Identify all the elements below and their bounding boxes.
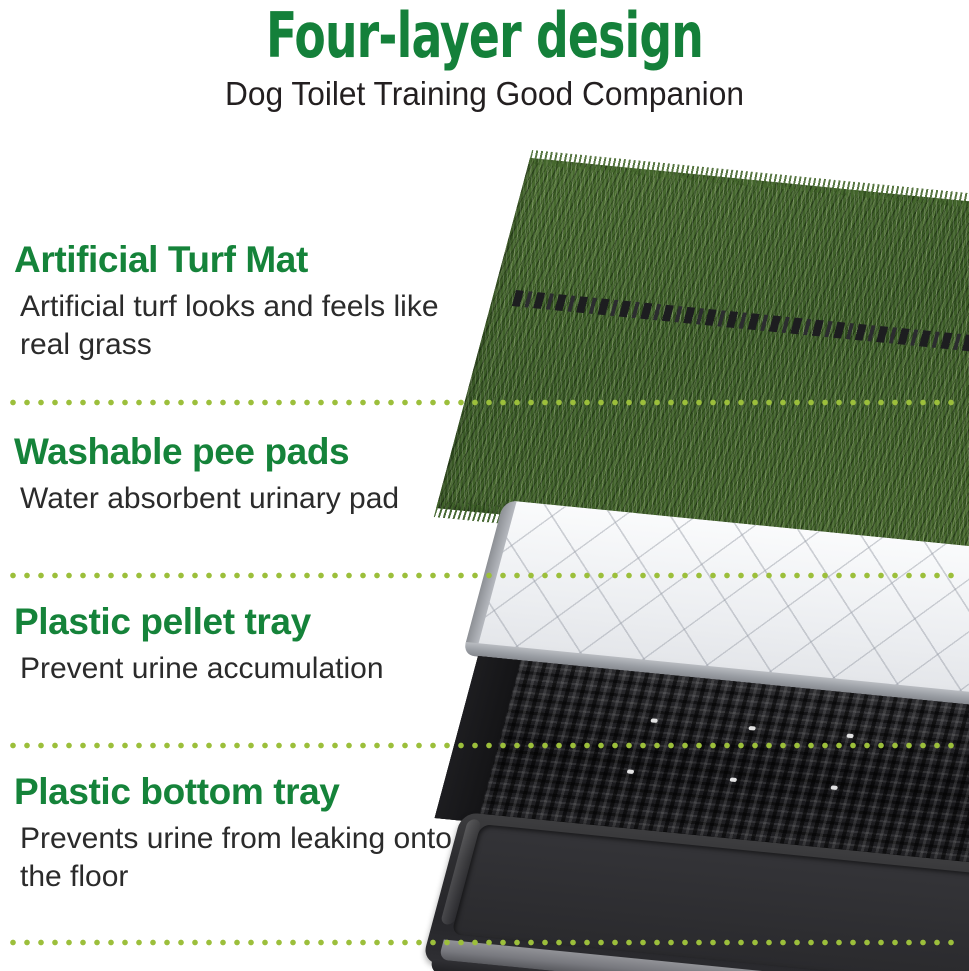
feature-description: Prevents urine from leaking onto the flo… — [20, 820, 490, 896]
dotted-divider — [10, 399, 960, 406]
product-infographic: Four-layer design Dog Toilet Training Go… — [0, 0, 969, 971]
feature-block-artificial-turf-mat: Artificial Turf Mat Artificial turf look… — [14, 238, 514, 364]
feature-description: Water absorbent urinary pad — [20, 480, 490, 518]
dotted-divider — [10, 742, 960, 749]
header: Four-layer design Dog Toilet Training Go… — [0, 0, 969, 125]
turf-fringe-top — [528, 150, 969, 218]
product-layer-stack-illustration — [470, 140, 969, 971]
feature-description: Artificial turf looks and feels like rea… — [20, 288, 490, 364]
pellet-highlight-dot — [650, 718, 658, 723]
dotted-divider — [10, 939, 960, 946]
feature-heading: Plastic bottom tray — [14, 770, 514, 814]
pellet-highlight-dot — [627, 769, 635, 774]
feature-block-plastic-pellet-tray: Plastic pellet tray Prevent urine accumu… — [14, 600, 514, 688]
page-title: Four-layer design — [87, 4, 882, 68]
page-subtitle: Dog Toilet Training Good Companion — [19, 74, 949, 114]
pellet-highlight-dot — [729, 777, 737, 782]
feature-heading: Washable pee pads — [14, 430, 514, 474]
feature-heading: Artificial Turf Mat — [14, 238, 514, 282]
pellet-highlight-dot — [830, 785, 838, 790]
feature-heading: Plastic pellet tray — [14, 600, 514, 644]
feature-block-plastic-bottom-tray: Plastic bottom tray Prevents urine from … — [14, 770, 514, 896]
pellet-highlight-dot — [748, 726, 756, 731]
feature-description: Prevent urine accumulation — [20, 650, 490, 688]
pellet-highlight-dot — [846, 734, 854, 739]
feature-block-washable-pee-pads: Washable pee pads Water absorbent urinar… — [14, 430, 514, 518]
dotted-divider — [10, 572, 960, 579]
